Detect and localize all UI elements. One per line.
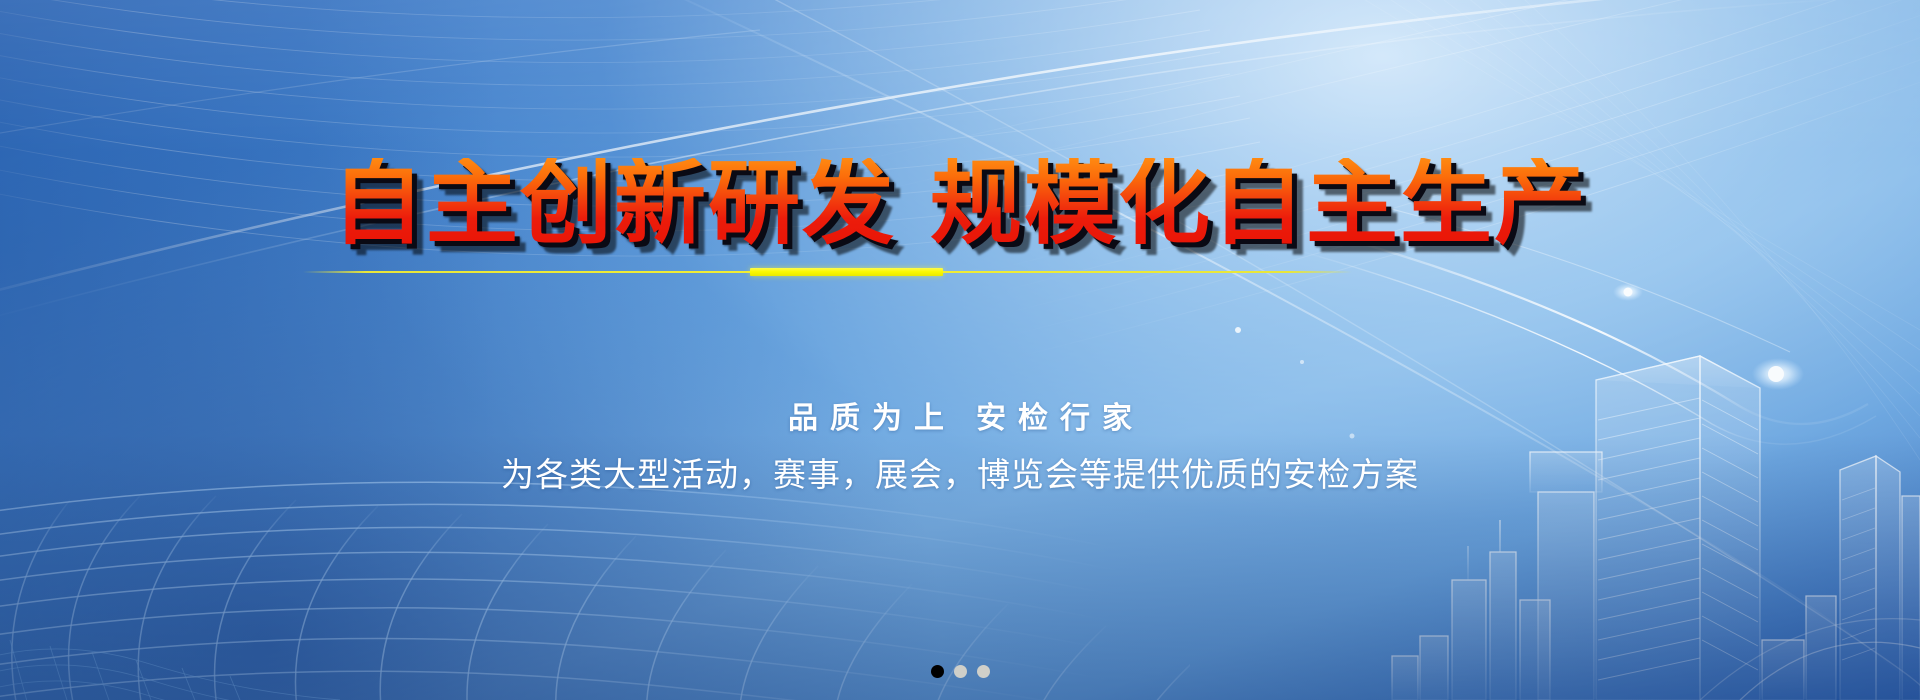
- banner-headline: 自主创新研发规模化自主生产: [332, 158, 1588, 250]
- carousel-dot-3[interactable]: [977, 665, 990, 678]
- subtitle-primary-left: 品质为上: [788, 402, 956, 435]
- yellow-divider: [303, 268, 1352, 276]
- subtitle-secondary: 为各类大型活动，赛事，展会，博览会等提供优质的安检方案: [0, 452, 1920, 498]
- subtitle-primary: 品质为上安检行家: [0, 398, 1920, 440]
- subtitle-primary-right: 安检行家: [976, 402, 1144, 435]
- headline-part-1: 自主创新研发: [332, 150, 896, 257]
- divider-thick-bar: [750, 268, 943, 276]
- hero-banner: 自主创新研发规模化自主生产 品质为上安检行家 为各类大型活动，赛事，展会，博览会…: [0, 0, 1920, 700]
- carousel-dots: [0, 665, 1920, 678]
- headline-container: 自主创新研发规模化自主生产: [0, 96, 1920, 311]
- headline-part-2: 规模化自主生产: [930, 150, 1588, 257]
- carousel-dot-2[interactable]: [954, 665, 967, 678]
- subtitle-container: 品质为上安检行家 为各类大型活动，赛事，展会，博览会等提供优质的安检方案: [0, 398, 1920, 498]
- carousel-dot-1[interactable]: [931, 665, 944, 678]
